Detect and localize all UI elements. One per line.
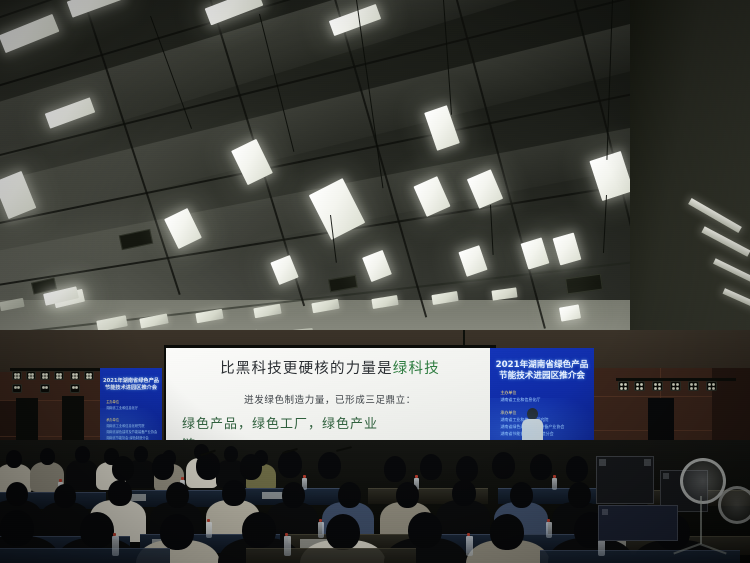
banner-left-cohost-heading: 承办单位: [106, 418, 158, 423]
presenter-head: [527, 408, 538, 420]
led-panel-light: [311, 299, 339, 314]
conference-room-photo: 2021年湖南省绿色产品 节能技术进园区推介会 主办单位 湖南省工业和信息化厅 …: [0, 0, 750, 563]
banner-right-organizer-item: 湖南省工业和信息化厅: [500, 397, 587, 403]
attendee-head: [224, 446, 238, 462]
attendee-head: [0, 510, 34, 546]
par-can-stage-light: [12, 384, 22, 393]
slide-title-prefix: 比黑科技更硬核的力量是: [220, 361, 393, 377]
banner-right-title-line-1: 2021年湖南省绿色产品: [494, 360, 590, 370]
attendee-head: [492, 452, 515, 479]
slide-title-highlight: 绿科技: [393, 361, 440, 377]
attendee-head: [6, 450, 22, 468]
attendee-head: [222, 480, 246, 506]
led-panel-light: [559, 304, 581, 321]
wood-panel-seam: [0, 400, 100, 401]
attendee-head: [108, 480, 132, 506]
water-bottle: [284, 536, 291, 556]
par-can-stage-light: [40, 371, 50, 380]
water-bottle: [546, 522, 552, 538]
attendee-head: [384, 456, 406, 482]
water-bottle: [552, 478, 557, 490]
attendee-head: [318, 452, 341, 479]
banner-left-cohost-item: 湖南省绿色建材及节能装备产业协会: [106, 430, 158, 435]
par-can-stage-light: [706, 381, 717, 391]
slide-subtitle: 迸发绿色制造力量，已形成三足鼎立：: [166, 392, 494, 406]
led-panel-light: [139, 313, 168, 328]
par-can-stage-light: [26, 371, 36, 380]
attendee-head: [54, 484, 76, 508]
attendee-head: [152, 454, 174, 480]
attendee-head: [6, 482, 28, 506]
par-can-stage-light: [70, 384, 80, 393]
water-bottle: [466, 536, 473, 556]
attendee-head: [160, 514, 194, 550]
banner-left-organizer-heading: 主办单位: [106, 400, 158, 405]
banner-left-title-line-2: 节能技术进园区推介会: [102, 385, 159, 391]
delegate-desk: [0, 548, 170, 563]
attendee-head: [134, 446, 148, 462]
equipment-road-case: [598, 505, 678, 541]
slide-body-line: 绿色产品，绿色工厂，绿色产业: [182, 414, 484, 435]
par-can-stage-light: [688, 381, 699, 391]
case-corner: [599, 459, 606, 466]
desk-nameplate: [262, 492, 284, 499]
banner-right-cohost-item: 湖南省工业和信息化研究院: [500, 417, 587, 423]
case-corner: [663, 473, 669, 479]
right-side-wall: [630, 0, 750, 365]
attendee-head: [242, 512, 276, 548]
attendee-head: [396, 482, 419, 508]
attendee-head: [240, 454, 262, 480]
banner-right-cohost-item: 湖南省节能协会·绿色制造分会: [500, 431, 587, 437]
attendee-head: [80, 512, 114, 548]
par-can-stage-light: [618, 381, 629, 391]
case-corner: [644, 459, 651, 466]
water-bottle: [206, 522, 212, 538]
attendee-head: [452, 480, 476, 506]
banner-right-cohost-item: 湖南省绿色建材及节能装备产业协会: [500, 424, 587, 430]
banner-left-title-line-1: 2021年湖南省绿色产品: [102, 378, 159, 384]
attendee-head: [326, 514, 360, 550]
attendee-head: [166, 482, 189, 508]
attendee-head: [408, 512, 442, 548]
attendee-head: [112, 456, 134, 481]
case-corner: [602, 509, 608, 515]
delegate-desk: [540, 550, 740, 563]
par-can-stage-light: [652, 381, 663, 391]
attendee-head: [456, 456, 478, 482]
attendee-head: [566, 456, 588, 482]
water-bottle: [112, 536, 119, 556]
attendee-head: [40, 448, 55, 465]
pedestal-fan-stem: [700, 496, 702, 544]
banner-left-organizer-item: 湖南省工业和信息化厅: [106, 406, 158, 411]
attendee-head: [568, 482, 591, 508]
delegate-desk: [246, 548, 416, 563]
equipment-road-case: [596, 456, 654, 504]
par-can-stage-light: [12, 371, 22, 380]
attendee-head: [278, 450, 302, 478]
par-can-stage-light: [70, 371, 80, 380]
banner-right-organizer-heading: 主办单位: [500, 390, 587, 396]
attendee-head: [338, 482, 361, 508]
attendee-head: [282, 482, 305, 508]
attendee-head: [420, 454, 442, 480]
par-can-stage-light: [670, 381, 681, 391]
banner-right-cohost-heading: 承办单位: [500, 410, 587, 416]
par-can-stage-light: [40, 384, 50, 393]
par-can-stage-light: [84, 371, 94, 380]
slide-title: 比黑科技更硬核的力量是绿科技: [166, 357, 494, 378]
wood-panel-seam: [0, 436, 100, 437]
banner-left-cohost-item: 湖南省工业和信息化研究院: [106, 424, 158, 429]
banner-right-title-line-2: 节能技术进园区推介会: [494, 371, 590, 381]
pedestal-fan: [718, 486, 750, 524]
attendee-head: [490, 514, 524, 550]
attendee-head: [75, 446, 90, 463]
attendee-head: [196, 452, 220, 480]
suspended-ceiling: [0, 0, 750, 365]
attendee-head: [530, 454, 552, 480]
par-can-stage-light: [54, 371, 64, 380]
water-bottle: [318, 522, 324, 538]
par-can-stage-light: [634, 381, 645, 391]
attendee-head: [510, 482, 533, 508]
